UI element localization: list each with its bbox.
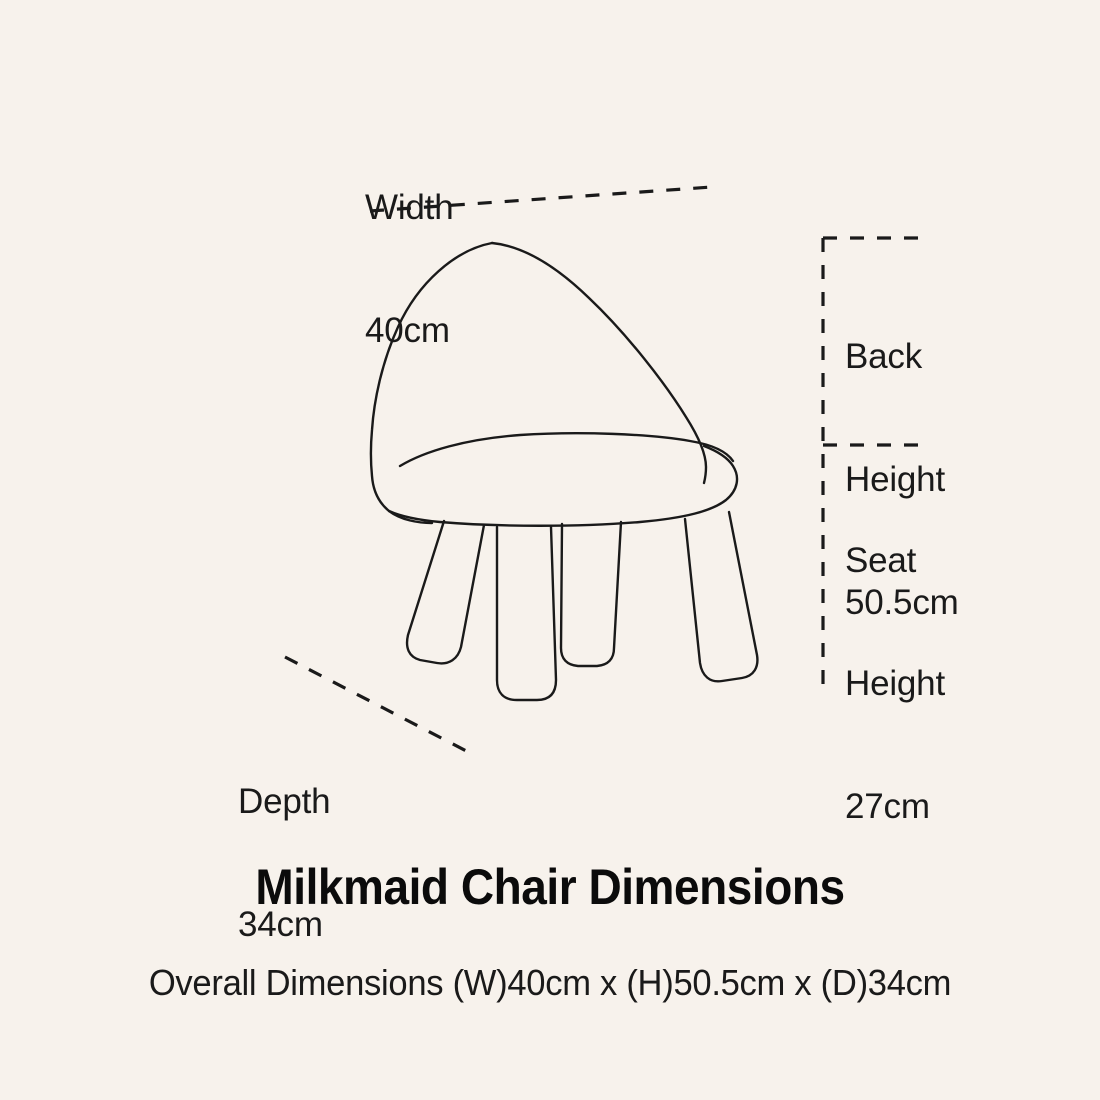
seat-height-annotation-label-line1: Seat <box>845 541 945 582</box>
seat-height-annotation: Seat Height 27cm <box>845 459 945 909</box>
chair-seat-inner-edge <box>400 433 733 466</box>
width-annotation-value: 40cm <box>365 311 453 352</box>
seat-height-annotation-value: 27cm <box>845 787 945 828</box>
page-title: Milkmaid Chair Dimensions <box>44 858 1056 916</box>
chair-leg-center-front <box>497 527 556 700</box>
chair-leg-front-left <box>407 521 484 663</box>
chair-leg-right <box>685 512 757 681</box>
chair-leg-center-back <box>561 522 621 666</box>
chair-backrest-top-right-curve <box>492 243 706 483</box>
title-block: Milkmaid Chair Dimensions Overall Dimens… <box>0 858 1100 1004</box>
width-annotation-label: Width <box>365 188 453 229</box>
back-height-annotation-label-line1: Back <box>845 337 959 378</box>
overall-dimensions-text: Overall Dimensions (W)40cm x (H)50.5cm x… <box>22 962 1078 1004</box>
width-annotation: Width 40cm <box>365 106 453 434</box>
chair-seat-outline <box>389 446 737 526</box>
depth-annotation-label: Depth <box>238 782 330 823</box>
chair-dimensions-spec-sheet: Width 40cm Back Height 50.5cm Seat Heigh… <box>0 0 1100 1100</box>
seat-height-annotation-label-line2: Height <box>845 664 945 705</box>
